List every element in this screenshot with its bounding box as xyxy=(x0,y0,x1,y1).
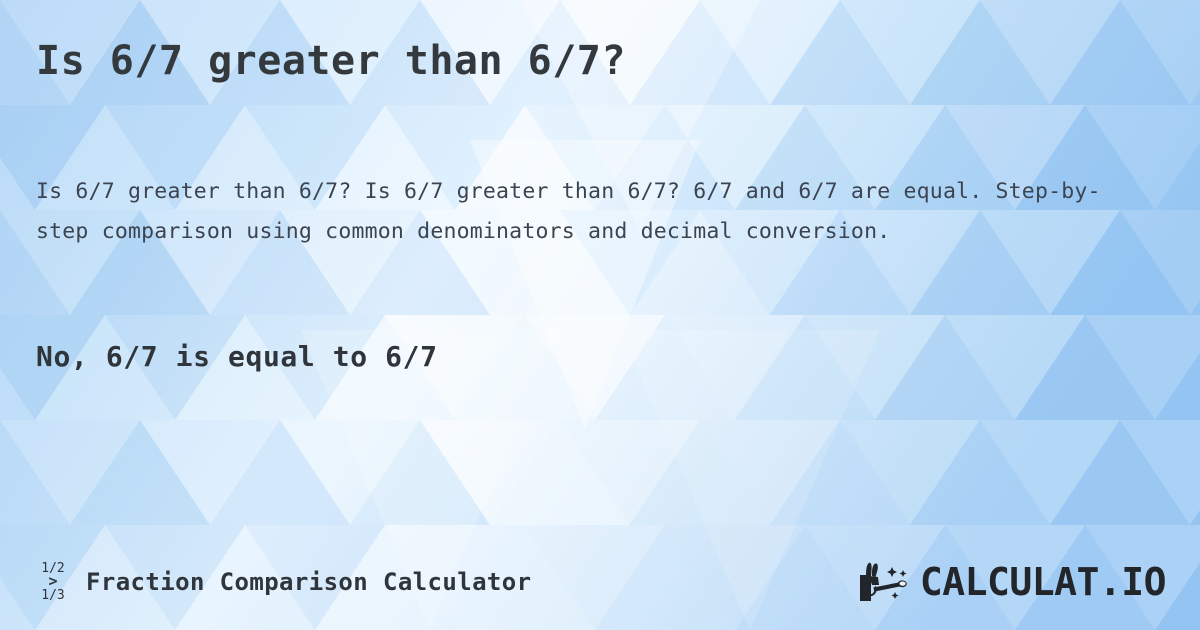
fraction-icon-operator: > xyxy=(48,575,57,589)
fraction-icon-denominator: 1/3 xyxy=(41,589,64,602)
page-title: Is 6/7 greater than 6/7? xyxy=(36,38,1164,84)
footer-branding-left: 1/2 > 1/3 Fraction Comparison Calculator xyxy=(36,562,531,602)
footer: 1/2 > 1/3 Fraction Comparison Calculator xyxy=(0,556,1200,608)
brand-logo[interactable]: CALCULAT.IO xyxy=(858,561,1166,603)
content-area: Is 6/7 greater than 6/7? xyxy=(0,0,1200,630)
answer-statement: No, 6/7 is equal to 6/7 xyxy=(36,340,438,373)
magic-wand-hand-icon xyxy=(858,561,916,603)
fraction-comparison-icon: 1/2 > 1/3 xyxy=(36,562,70,602)
brand-wordmark: CALCULAT.IO xyxy=(920,563,1166,601)
page-description: Is 6/7 greater than 6/7? Is 6/7 greater … xyxy=(36,172,1144,252)
footer-calculator-name: Fraction Comparison Calculator xyxy=(86,568,531,596)
og-image-canvas: Is 6/7 greater than 6/7? Is 6/7 greater … xyxy=(0,0,1200,630)
